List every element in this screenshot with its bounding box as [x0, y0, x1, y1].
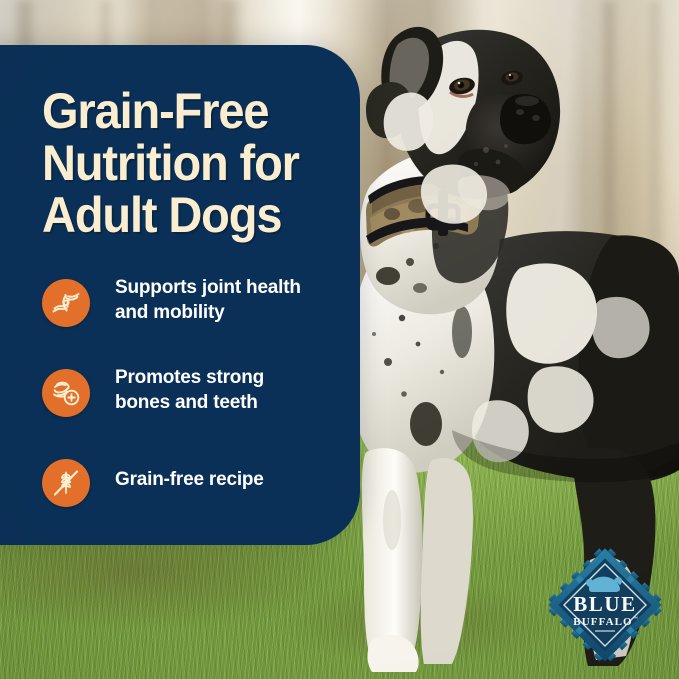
list-item: Supports joint health and mobility: [42, 275, 342, 365]
logo-trademark: ™: [633, 616, 638, 622]
feature-1-line-2: and mobility: [115, 300, 340, 325]
page-title: Grain-Free Nutrition for Adult Dogs: [42, 85, 333, 241]
product-feature-banner: Grain-Free Nutrition for Adult Dogs: [0, 0, 679, 679]
list-item-label: Grain-free recipe: [115, 467, 340, 492]
list-item: Grain-free recipe: [42, 455, 342, 545]
headline-line-2: Nutrition for: [42, 137, 333, 189]
list-item: Promotes strong bones and teeth: [42, 365, 342, 455]
bone-plus-icon: [42, 369, 90, 417]
logo-wordmark-buffalo: BUFFALO: [573, 616, 632, 628]
feature-list: Supports joint health and mobility: [42, 275, 342, 545]
feature-2-line-2: bones and teeth: [115, 390, 340, 415]
blue-buffalo-logo: BLUE BUFFALO ™: [545, 545, 665, 665]
headline-line-3: Adult Dogs: [42, 189, 333, 241]
feature-1-line-1: Supports joint health: [115, 275, 340, 300]
list-item-label: Supports joint health and mobility: [115, 275, 340, 325]
feature-2-line-1: Promotes strong: [115, 365, 340, 390]
feature-3-line-1: Grain-free recipe: [115, 467, 340, 492]
list-item-label: Promotes strong bones and teeth: [115, 365, 340, 415]
headline-line-1: Grain-Free: [42, 85, 333, 137]
joint-bone-icon: [42, 279, 90, 327]
logo-wordmark-blue: BLUE: [573, 592, 637, 616]
no-grain-wheat-icon: [42, 459, 90, 507]
info-panel: Grain-Free Nutrition for Adult Dogs: [0, 45, 360, 545]
